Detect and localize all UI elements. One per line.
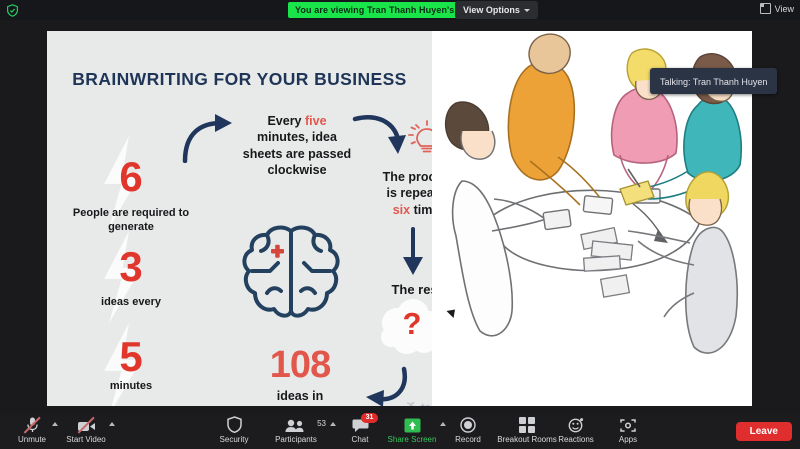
chat-label: Chat (352, 435, 369, 444)
microphone-muted-icon (25, 416, 40, 433)
apps-label: Apps (619, 435, 637, 444)
right-text-accent: six (393, 203, 410, 217)
reactions-icon (568, 416, 584, 433)
view-button-label: View (775, 4, 794, 14)
shield-icon (227, 416, 242, 433)
share-screen-icon (404, 416, 421, 433)
outcome-text: ideas in thirty minutes (230, 389, 370, 406)
reactions-button[interactable]: Reactions (548, 416, 604, 444)
center-text-accent: five (305, 114, 327, 128)
video-off-icon (77, 416, 96, 433)
outcome-line1: ideas in (277, 389, 324, 403)
participants-label: Participants (275, 435, 317, 444)
right-text-line3-plain: times (410, 203, 432, 217)
curved-arrow-up-right-icon (179, 111, 241, 163)
share-screen-button[interactable]: Share Screen (384, 416, 440, 444)
arrow-down-icon (399, 227, 427, 277)
people-icon (284, 416, 308, 433)
outcome-line2-plain: minutes (290, 405, 341, 406)
chat-unread-badge: 31 (361, 413, 378, 423)
lightbulb-icon (405, 117, 432, 161)
outcome-number: 108 (235, 346, 365, 384)
unmute-label: Unmute (18, 435, 46, 444)
participants-count: 53 (317, 419, 326, 428)
brand-logo: tecmark (405, 400, 432, 406)
outcome-accent: thirty (259, 405, 290, 406)
video-options-caret-icon[interactable] (109, 422, 115, 426)
stat-number-3: 3 (71, 246, 191, 288)
talking-indicator: Talking: Tran Thanh Huyen (650, 68, 777, 94)
record-button[interactable]: Record (440, 416, 496, 444)
start-video-label: Start Video (66, 435, 105, 444)
leave-button[interactable]: Leave (736, 422, 792, 441)
stat-text-1: People are required to generate (67, 206, 195, 234)
apps-button[interactable]: Apps (600, 416, 656, 444)
question-mark: ? (377, 306, 432, 342)
grid-icon (760, 3, 771, 14)
share-screen-label: Share Screen (388, 435, 437, 444)
top-bar: You are viewing Tran Thanh Huyen's scree… (0, 0, 800, 20)
brand-name: tecmark (421, 402, 432, 407)
record-icon (460, 416, 476, 433)
breakout-rooms-icon (519, 416, 535, 433)
leave-label: Leave (750, 426, 778, 437)
result-label: The result (365, 282, 432, 299)
shared-screen-stage: BRAINWRITING FOR YOUR BUSINESS 6 People … (0, 20, 800, 415)
meeting-toolbar: Unmute Start Video Security (0, 415, 800, 449)
apps-icon (620, 416, 636, 433)
security-label: Security (220, 435, 249, 444)
curved-arrow-down-right-icon (352, 109, 412, 161)
view-button[interactable]: View (760, 3, 794, 14)
green-shield-icon[interactable] (6, 4, 19, 17)
chat-button[interactable]: Chat 31 (332, 416, 388, 444)
unmute-button[interactable]: Unmute (4, 416, 60, 444)
stat-number-6: 6 (71, 156, 191, 198)
right-top-text: The process is repeated six times (362, 169, 432, 218)
curved-arrow-left-icon (352, 363, 410, 406)
security-button[interactable]: Security (206, 416, 262, 444)
stat-text-2: ideas every (67, 295, 195, 309)
view-options-label: View Options (463, 5, 520, 15)
tecmark-mark-icon (405, 400, 418, 406)
stat-number-5: 5 (71, 336, 191, 378)
shared-content: BRAINWRITING FOR YOUR BUSINESS 6 People … (47, 31, 752, 406)
brain-icon (237, 221, 345, 327)
reactions-label: Reactions (558, 435, 594, 444)
zoom-meeting-window: You are viewing Tran Thanh Huyen's scree… (0, 0, 800, 449)
participants-button[interactable]: Participants 53 (268, 416, 324, 444)
right-text-line2: is repeated (386, 186, 432, 200)
center-text-line1-plain: Every (267, 114, 305, 128)
slide-title: BRAINWRITING FOR YOUR BUSINESS (47, 69, 432, 90)
talking-indicator-text: Talking: Tran Thanh Huyen (660, 77, 767, 87)
center-text-rest: minutes, idea sheets are passed clockwis… (243, 130, 351, 177)
infographic-slide: BRAINWRITING FOR YOUR BUSINESS 6 People … (47, 31, 432, 406)
stat-text-3: minutes (67, 379, 195, 393)
center-top-text: Every five minutes, idea sheets are pass… (237, 113, 357, 178)
chevron-down-icon (524, 9, 530, 12)
view-options-button[interactable]: View Options (455, 1, 538, 19)
right-text-line1: The process (383, 170, 432, 184)
record-label: Record (455, 435, 481, 444)
start-video-button[interactable]: Start Video (58, 416, 114, 444)
